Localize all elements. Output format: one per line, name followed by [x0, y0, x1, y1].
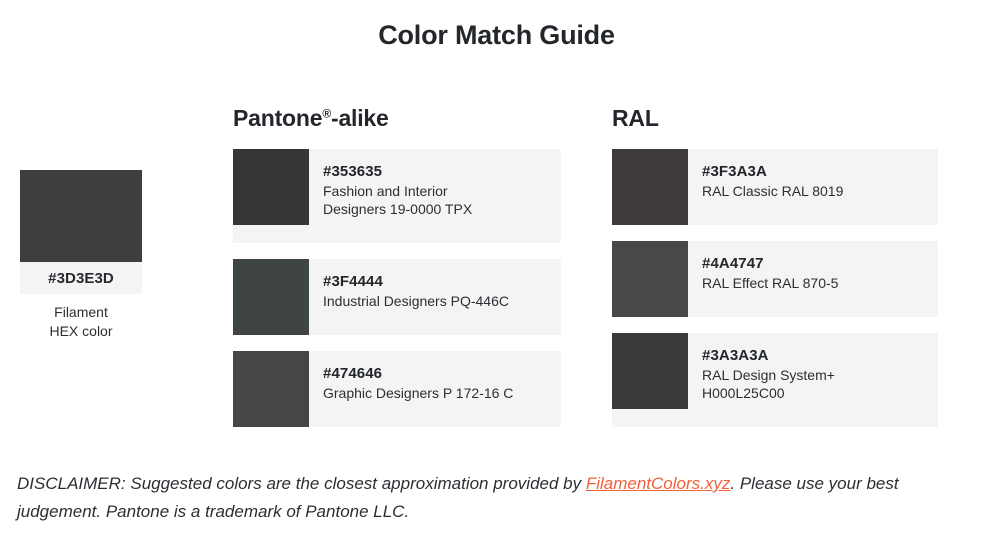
page-title: Color Match Guide [0, 18, 993, 52]
pantone-heading-text: Pantone [233, 105, 322, 131]
match-hex-value: #474646 [323, 364, 513, 383]
match-description: Industrial Designers PQ-446C [323, 292, 509, 310]
match-card[interactable]: #474646 Graphic Designers P 172-16 C [233, 351, 561, 427]
ral-heading-text: RAL [612, 105, 659, 131]
filament-caption-line2: HEX color [20, 322, 142, 341]
filament-caption: Filament HEX color [20, 303, 142, 341]
match-card[interactable]: #3A3A3A RAL Design System+ H000L25C00 [612, 333, 938, 427]
match-description: Graphic Designers P 172-16 C [323, 384, 513, 402]
filament-color-panel: #3D3E3D Filament HEX color [20, 170, 142, 341]
match-card-info: #4A4747 RAL Effect RAL 870-5 [688, 241, 850, 304]
match-color-swatch [612, 241, 688, 317]
match-hex-value: #3A3A3A [702, 346, 835, 365]
filament-hex-band: #3D3E3D [20, 262, 142, 294]
match-card[interactable]: #4A4747 RAL Effect RAL 870-5 [612, 241, 938, 317]
registered-trademark-icon: ® [322, 106, 331, 120]
filament-hex-value: #3D3E3D [48, 270, 114, 287]
ral-column-heading: RAL [612, 104, 938, 132]
match-description: RAL Classic RAL 8019 [702, 182, 843, 200]
match-card-info: #3F4444 Industrial Designers PQ-446C [309, 259, 521, 322]
match-hex-value: #3F3A3A [702, 162, 843, 181]
filamentcolors-link[interactable]: FilamentColors.xyz [586, 474, 731, 493]
ral-column: RAL #3F3A3A RAL Classic RAL 8019 #4A4747… [612, 104, 938, 443]
match-color-swatch [233, 259, 309, 335]
match-hex-value: #3F4444 [323, 272, 509, 291]
filament-caption-line1: Filament [20, 303, 142, 322]
match-card-info: #3A3A3A RAL Design System+ H000L25C00 [688, 333, 847, 414]
match-card-info: #353635 Fashion and Interior Designers 1… [309, 149, 484, 230]
pantone-column: Pantone®-alike #353635 Fashion and Inter… [233, 104, 561, 443]
match-card[interactable]: #3F3A3A RAL Classic RAL 8019 [612, 149, 938, 225]
match-description: RAL Design System+ H000L25C00 [702, 366, 835, 402]
match-color-swatch [612, 333, 688, 409]
match-color-swatch [233, 149, 309, 225]
pantone-column-heading: Pantone®-alike [233, 104, 561, 132]
pantone-heading-suffix: -alike [331, 105, 389, 131]
match-description: RAL Effect RAL 870-5 [702, 274, 838, 292]
match-description: Fashion and Interior Designers 19-0000 T… [323, 182, 472, 218]
disclaimer-text: DISCLAIMER: Suggested colors are the clo… [17, 470, 977, 526]
match-card[interactable]: #353635 Fashion and Interior Designers 1… [233, 149, 561, 243]
filament-color-swatch [20, 170, 142, 262]
match-hex-value: #353635 [323, 162, 472, 181]
match-color-swatch [233, 351, 309, 427]
match-color-swatch [612, 149, 688, 225]
match-card-info: #3F3A3A RAL Classic RAL 8019 [688, 149, 855, 212]
match-card[interactable]: #3F4444 Industrial Designers PQ-446C [233, 259, 561, 335]
match-hex-value: #4A4747 [702, 254, 838, 273]
disclaimer-part1: DISCLAIMER: Suggested colors are the clo… [17, 474, 586, 493]
match-card-info: #474646 Graphic Designers P 172-16 C [309, 351, 525, 414]
